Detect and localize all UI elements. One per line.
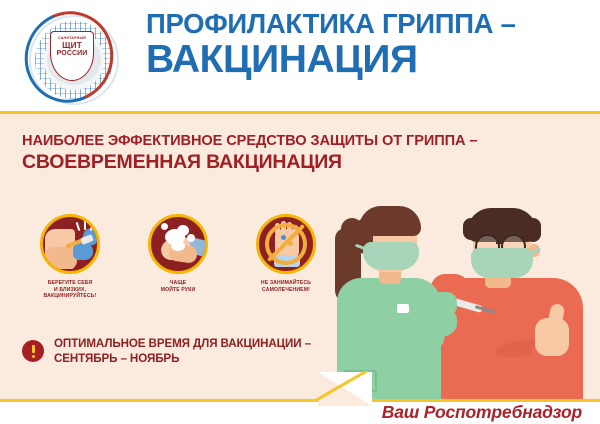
exclamation-circle-icon [22,340,44,362]
subtitle-block: НАИБОЛЕЕ ЭФФЕКТИВНОЕ СРЕДСТВО ЗАЩИТЫ ОТ … [22,132,582,174]
sanitary-shield-emblem: САНИТАРНЫЙ ЩИТ РОССИИ [23,11,121,105]
tip-caption: ЧАЩЕ МОЙТЕ РУКИ [126,280,230,293]
tip-caption-line-1: БЕРЕГИТЕ СЕБЯ [18,280,122,287]
callout-text: ОПТИМАЛЬНОЕ ВРЕМЯ ДЛЯ ВАКЦИНАЦИИ – СЕНТЯ… [54,336,322,366]
foam-3 [161,223,168,230]
subtitle-line-2: СВОЕВРЕМЕННАЯ ВАКЦИНАЦИЯ [22,150,582,174]
tip-caption-line-1: ЧАЩЕ [126,280,230,287]
poster-body: НАИБОЛЕЕ ЭФФЕКТИВНОЕ СРЕДСТВО ЗАЩИТЫ ОТ … [0,114,600,401]
footer-diagonal-line [316,371,376,407]
foam-5 [171,241,185,251]
hand-washing-icon [148,214,208,274]
poster-header: САНИТАРНЫЙ ЩИТ РОССИИ ПРОФИЛАКТИКА ГРИПП… [0,0,600,113]
tips-row: БЕРЕГИТЕ СЕБЯ И БЛИЗКИХ, ВАКЦИНИРУЙТЕСЬ! [18,214,338,304]
nurse-hair-tie [341,218,363,244]
no-self-medication-icon [256,214,316,274]
emblem-text-line2: ЩИТ [62,41,82,50]
flu-vaccination-poster: САНИТАРНЫЙ ЩИТ РОССИИ ПРОФИЛАКТИКА ГРИПП… [0,0,600,424]
tip-item-vaccination: БЕРЕГИТЕ СЕБЯ И БЛИЗКИХ, ВАКЦИНИРУЙТЕСЬ! [18,214,122,300]
tip-caption: НЕ ЗАНИМАЙТЕСЬ САМОЛЕЧЕНИЕМ! [234,280,338,293]
man-hair-left [463,218,479,240]
callout-line-1: ОПТИМАЛЬНОЕ ВРЕМЯ ДЛЯ ВАКЦИНАЦИИ – [54,336,322,351]
tip-caption-line-2: МОЙТЕ РУКИ [126,287,230,294]
spark-1 [76,222,81,231]
gloved-hand [73,243,93,260]
man-face-mask [471,248,533,278]
callout-line-2: СЕНТЯБРЬ – НОЯБРЬ [54,351,322,366]
man-hair-right [525,218,541,242]
tip-caption-line-1: НЕ ЗАНИМАЙТЕСЬ [234,280,338,287]
tip-caption-line-3: ВАКЦИНИРУЙТЕСЬ! [18,293,122,300]
glasses-bridge [496,242,502,244]
callout-block: ОПТИМАЛЬНОЕ ВРЕМЯ ДЛЯ ВАКЦИНАЦИИ – СЕНТЯ… [22,336,322,382]
vaccination-arm-syringe-icon [40,214,100,274]
tip-caption-line-2: САМОЛЕЧЕНИЕМ! [234,287,338,294]
title-line-1: ПРОФИЛАКТИКА ГРИППА – [146,8,592,39]
spark-2 [84,220,86,230]
subtitle-line-1: НАИБОЛЕЕ ЭФФЕКТИВНОЕ СРЕДСТВО ЗАЩИТЫ ОТ … [22,132,582,150]
nurse-badge [397,304,409,313]
footer-text: Ваш Роспотребнадзор [382,401,582,423]
tip-caption: БЕРЕГИТЕ СЕБЯ И БЛИЗКИХ, ВАКЦИНИРУЙТЕСЬ! [18,280,122,300]
title-line-2: ВАКЦИНАЦИЯ [146,39,592,81]
foam-4 [187,234,195,242]
nurse-face-mask [363,242,419,270]
tip-item-handwashing: ЧАЩЕ МОЙТЕ РУКИ [126,214,230,293]
emblem-text-line3: РОССИИ [57,50,88,58]
nurse-glove-lower [425,312,457,334]
tip-item-no-self-medication: НЕ ЗАНИМАЙТЕСЬ САМОЛЕЧЕНИЕМ! [234,214,338,293]
page-title: ПРОФИЛАКТИКА ГРИППА – ВАКЦИНАЦИЯ [146,8,592,81]
